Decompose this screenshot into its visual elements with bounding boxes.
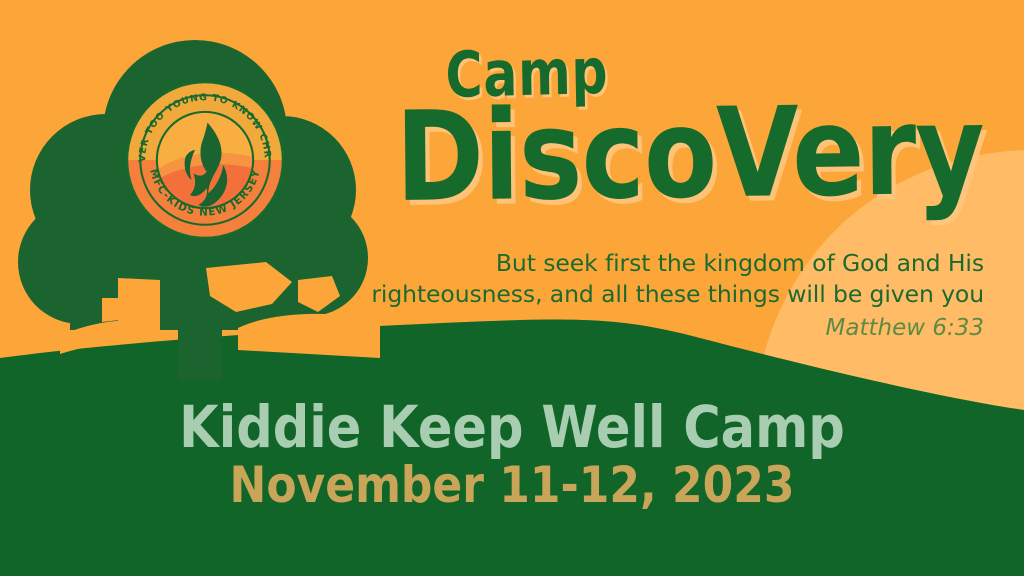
badge-emblem: NEVER TOO YOUNG TO KNOW CHRIST MFC-KIDS … [122,77,288,243]
headline-block: Camp DiscoVery [395,44,995,244]
poster-canvas: NEVER TOO YOUNG TO KNOW CHRIST MFC-KIDS … [0,0,1024,576]
title-discovery: DiscoVery [395,89,984,220]
event-info-block: Kiddie Keep Well Camp November 11-12, 20… [0,398,1024,512]
verse-line-2: righteousness, and all these things will… [344,279,984,310]
scripture-verse: But seek first the kingdom of God and Hi… [344,248,984,343]
camp-dates: November 11-12, 2023 [61,459,962,512]
camp-name: Kiddie Keep Well Camp [61,398,962,457]
verse-line-1: But seek first the kingdom of God and Hi… [344,248,984,279]
verse-reference: Matthew 6:33 [344,313,984,344]
